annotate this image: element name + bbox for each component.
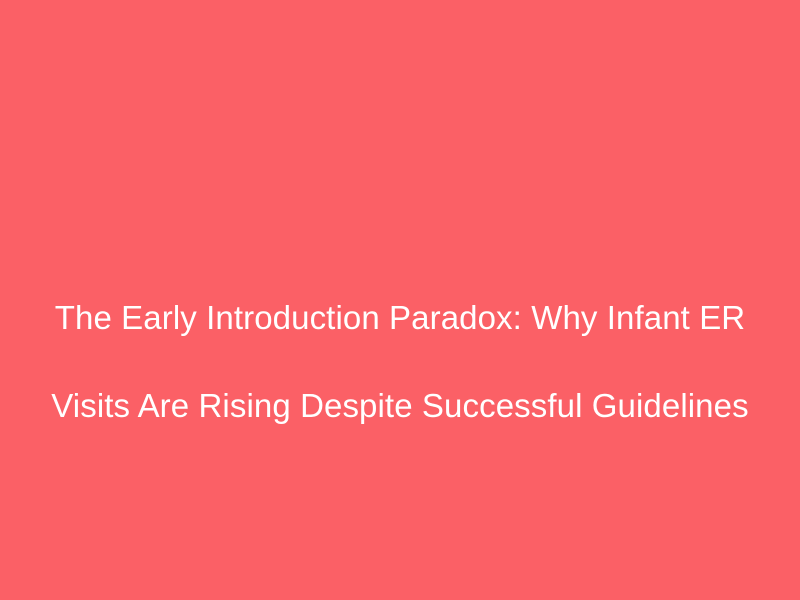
title-card: The Early Introduction Paradox: Why Infa… [0, 0, 800, 600]
headline-block: The Early Introduction Paradox: Why Infa… [0, 252, 800, 472]
page-title-line-1: The Early Introduction Paradox: Why Infa… [24, 296, 776, 340]
page-title-line-2: Visits Are Rising Despite Successful Gui… [24, 384, 776, 428]
page-title: The Early Introduction Paradox: Why Infa… [24, 252, 776, 472]
